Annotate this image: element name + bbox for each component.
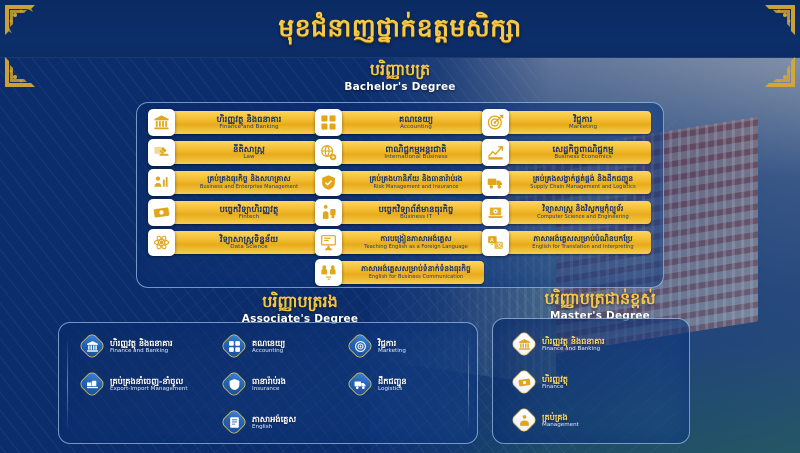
program-label-en: English for Translation and Interpreting [532,244,633,251]
program-label-en: Logistics [378,386,407,393]
book-icon [221,409,247,435]
program-item[interactable]: គ្រប់គ្រងសង្វាក់ផ្គត់ផ្គង់ និងដឹកជញ្ជូន … [485,171,651,194]
program-label-en: Law [243,154,254,161]
program-label: គ្រប់គ្រងនាំចេញ-នាំចូល Export-Import Man… [110,376,188,393]
teacher-board-icon [315,229,342,256]
program-item[interactable]: បច្ចេកវិទ្យាហិរញ្ញវត្ថុ Fintech [151,201,317,224]
program-item[interactable]: ហិរញ្ញវត្ថុ និងធនាគារ Finance and Bankin… [151,111,317,134]
program-label-en: Finance and Banking [219,124,278,131]
bachelor-column-3: វិជ្ជការ Marketing សេដ្ឋកិច្ចពាណិជ្ជកម្ម… [485,111,651,261]
program-label: គ្រប់គ្រង Management [542,412,579,429]
target-arrow-icon [482,109,509,136]
program-item[interactable]: វិទ្យាសាស្ត្រ និងវិស្វកម្មកុំព្យូទ័រ Com… [485,201,651,224]
program-label-kh: គ្រប់គ្រងហានិភ័យ និងធានារ៉ាប់រង [369,174,462,184]
program-item[interactable]: វិទ្យាសាស្ត្រទិន្នន័យ Data Science [151,231,317,254]
program-label-en: Teaching English as a Foreign Language [364,244,468,251]
program-label-en: Business and Enterprise Management [200,184,298,191]
program-item[interactable]: ធានារ៉ាប់រង Insurance [221,371,286,397]
shield-check-icon [315,169,342,196]
program-label-kh: គ្រប់គ្រងនាំចេញ-នាំចូល [110,376,188,386]
program-label-en: International Business [384,154,447,161]
corner-ornament-icon [752,44,798,90]
money-card-icon [511,369,537,395]
program-label-en: Marketing [569,124,597,131]
program-item[interactable]: ការបង្រៀនភាសាអង់គ្លេស Teaching English a… [318,231,484,254]
program-label: ដឹកជញ្ជូន Logistics [378,376,407,393]
program-label-kh: វិជ្ជការ [378,338,406,348]
program-item[interactable]: គ្រប់គ្រងធុរកិច្ច និងសហគ្រាស Business an… [151,171,317,194]
program-label-kh: គ្រប់គ្រង [542,412,579,422]
program-item[interactable]: ដឹកជញ្ជូន Logistics [347,371,407,397]
program-item[interactable]: ភាសាអង់គ្លេស English [221,409,296,435]
program-label-kh: ការបង្រៀនភាសាអង់គ្លេស [380,234,451,244]
header-bar: មុខជំនាញថ្នាក់ឧត្តមសិក្សា [0,0,800,58]
program-label-en: Data Science [230,244,267,251]
program-label-kh: គ្រប់គ្រងសង្វាក់ផ្គត់ផ្គង់ និងដឹកជញ្ជូន [533,174,633,184]
program-label-en: Finance and Banking [110,348,173,355]
calculator-grid-icon [221,333,247,359]
corner-ornament-icon [2,2,48,48]
program-label-kh: វិជ្ជការ [574,114,593,124]
program-label: ហិរញ្ញវត្ថុ និងធនាគារ Finance and Bankin… [542,336,605,353]
program-label: ភាសាអង់គ្លេស English [252,414,296,431]
program-item[interactable]: គ្រប់គ្រង Management [511,407,579,433]
delivery-truck-icon [347,371,373,397]
program-label-kh: បច្ចេកវិទ្យាព័ត៌មានធុរកិច្ច [379,204,454,214]
bachelor-column-1: ហិរញ្ញវត្ថុ និងធនាគារ Finance and Bankin… [151,111,317,261]
program-item[interactable]: ហិរញ្ញវត្ថុ និងធនាគារ Finance and Bankin… [79,333,173,359]
program-label-kh: គណនេយ្យ [399,114,433,124]
section-heading-bachelor: បរិញ្ញាបត្រ Bachelor's Degree [250,60,550,94]
program-label: ហិរញ្ញវត្ថុ Finance [542,374,568,391]
program-label-en: Accounting [252,348,285,355]
program-label-en: English [252,424,296,431]
program-label-kh: ភាសាអង់គ្លេសសម្រាប់បំណិនបកប្រែ [533,234,632,244]
page-title: មុខជំនាញថ្នាក់ឧត្តមសិក្សា [0,8,800,48]
program-label-en: Risk Management and Insurance [374,184,459,191]
person-tech-icon [315,199,342,226]
bachelor-column-2: គណនេយ្យ Accounting ពាណិជ្ជកម្មអន្តរជាតិ … [318,111,484,291]
bank-icon [148,109,175,136]
delivery-truck-icon [482,169,509,196]
program-item[interactable]: ភាសាអង់គ្លេសសម្រាប់ទំនាក់ទំនងធុរកិច្ច En… [318,261,484,284]
section-title-kh: បរិញ្ញាបត្រ [250,60,550,79]
panel-divider [468,337,469,431]
target-arrow-icon [347,333,373,359]
program-label-kh: គ្រប់គ្រងធុរកិច្ច និងសហគ្រាស [207,174,290,184]
gavel-icon [148,139,175,166]
panel-associate: ហិរញ្ញវត្ថុ និងធនាគារ Finance and Bankin… [58,322,478,444]
program-label-kh: សេដ្ឋកិច្ចពាណិជ្ជកម្ម [552,144,613,154]
program-label-en: Finance [542,384,568,391]
panel-bachelor: ហិរញ្ញវត្ថុ និងធនាគារ Finance and Bankin… [136,102,664,288]
program-label-en: Computer Science and Engineering [537,214,629,221]
program-item[interactable]: ហិរញ្ញវត្ថុ Finance [511,369,568,395]
business-manager-icon [148,169,175,196]
program-item[interactable]: A文 ភាសាអង់គ្លេសសម្រាប់បំណិនបកប្រែ Englis… [485,231,651,254]
program-label-kh: ហិរញ្ញវត្ថុ និងធនាគារ [217,114,282,124]
bank-icon [511,331,537,357]
program-label-en: Accounting [400,124,432,131]
section-heading-associate: បរិញ្ញាបត្ររង Associate's Degree [170,292,430,326]
program-label-en: Management [542,422,579,429]
program-label-en: Business IT [400,214,432,221]
panel-divider [67,337,68,431]
shield-icon [221,371,247,397]
conversation-icon [315,259,342,286]
bank-icon [79,333,105,359]
program-label-en: Fintech [239,214,260,221]
program-item[interactable]: គណនេយ្យ Accounting [318,111,484,134]
section-title-en: Bachelor's Degree [250,80,550,94]
growth-chart-icon [482,139,509,166]
program-item[interactable]: សេដ្ឋកិច្ចពាណិជ្ជកម្ម Business Economics [485,141,651,164]
program-label: ហិរញ្ញវត្ថុ និងធនាគារ Finance and Bankin… [110,338,173,355]
program-label-kh: នីតិសាស្ត្រ [233,144,265,154]
program-label-kh: ធានារ៉ាប់រង [252,376,286,386]
cargo-icon [79,371,105,397]
program-label-en: Business Economics [554,154,611,161]
program-label-en: English for Business Communication [369,274,464,281]
program-label-kh: បច្ចេកវិទ្យាហិរញ្ញវត្ថុ [220,204,279,214]
program-label-kh: ពាណិជ្ជកម្មអន្តរជាតិ [385,144,446,154]
laptop-gear-icon [482,199,509,226]
program-label: វិជ្ជការ Marketing [378,338,406,355]
program-label-en: Supply Chain Management and Logistics [530,184,635,191]
program-label-kh: ហិរញ្ញវត្ថុ [542,374,568,384]
svg-text:A: A [490,238,494,244]
program-item[interactable]: វិជ្ជការ Marketing [485,111,651,134]
money-card-icon [148,199,175,226]
program-label: គណនេយ្យ Accounting [252,338,285,355]
program-item[interactable]: បច្ចេកវិទ្យាព័ត៌មានធុរកិច្ច Business IT [318,201,484,224]
panel-master: ហិរញ្ញវត្ថុ និងធនាគារ Finance and Bankin… [492,318,690,444]
program-item[interactable]: ពាណិជ្ជកម្មអន្តរជាតិ International Busin… [318,141,484,164]
corner-ornament-icon [752,2,798,48]
section-title-kh: បរិញ្ញាបត្រជាន់ខ្ពស់ [495,289,705,308]
manager-person-icon [511,407,537,433]
program-item[interactable]: នីតិសាស្ត្រ Law [151,141,317,164]
poster-canvas: មុខជំនាញថ្នាក់ឧត្តមសិក្សា [0,0,800,453]
program-label-kh: វិទ្យាសាស្ត្រ និងវិស្វកម្មកុំព្យូទ័រ [543,204,624,214]
program-label-en: Finance and Banking [542,346,605,353]
program-item[interactable]: វិជ្ជការ Marketing [347,333,406,359]
program-label-kh: ភាសាអង់គ្លេសសម្រាប់ទំនាក់ទំនងធុរកិច្ច [361,264,471,274]
section-title-kh: បរិញ្ញាបត្ររង [170,292,430,311]
program-label-kh: ភាសាអង់គ្លេស [252,414,296,424]
corner-ornament-icon [2,44,48,90]
program-label-en: Export-Import Management [110,386,188,393]
atom-data-icon [148,229,175,256]
program-label-kh: ហិរញ្ញវត្ថុ និងធនាគារ [542,336,605,346]
translate-icon: A文 [482,229,509,256]
program-label-kh: ហិរញ្ញវត្ថុ និងធនាគារ [110,338,173,348]
program-item[interactable]: គ្រប់គ្រងហានិភ័យ និងធានារ៉ាប់រង Risk Man… [318,171,484,194]
program-label-kh: គណនេយ្យ [252,338,285,348]
program-label-kh: វិទ្យាសាស្ត្រទិន្នន័យ [220,234,278,244]
program-item[interactable]: គ្រប់គ្រងនាំចេញ-នាំចូល Export-Import Man… [79,371,188,397]
program-label-en: Marketing [378,348,406,355]
program-item[interactable]: ហិរញ្ញវត្ថុ និងធនាគារ Finance and Bankin… [511,331,605,357]
program-item[interactable]: គណនេយ្យ Accounting [221,333,285,359]
globe-trade-icon [315,139,342,166]
program-label-kh: ដឹកជញ្ជូន [378,376,407,386]
program-label: ធានារ៉ាប់រង Insurance [252,376,286,393]
calculator-grid-icon [315,109,342,136]
program-label-en: Insurance [252,386,286,393]
